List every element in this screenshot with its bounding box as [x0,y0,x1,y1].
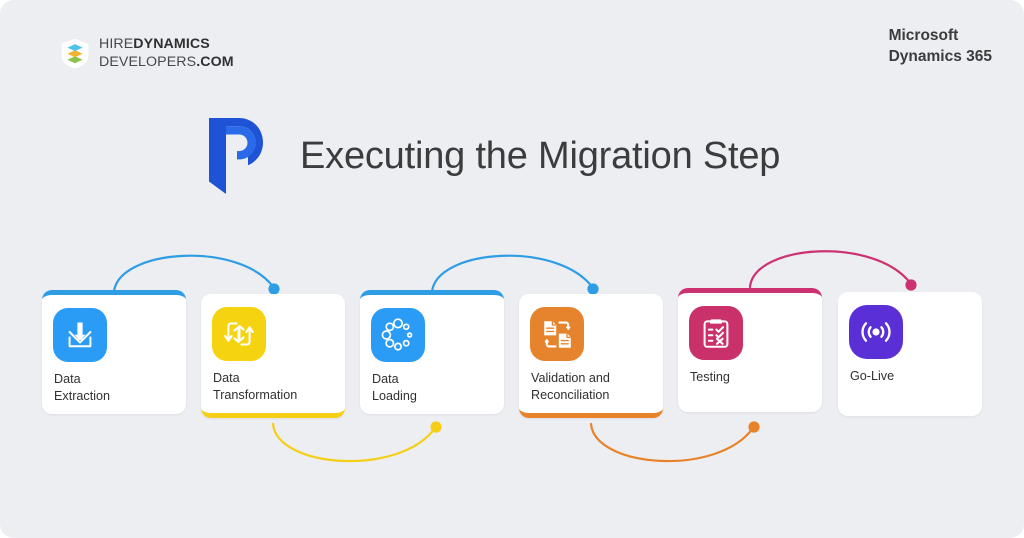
slide-canvas: HIREDYNAMICS DEVELOPERS.COM Microsoft Dy… [0,0,1024,538]
brand-developers: DEVELOPERS [99,54,196,70]
step-card-label: Data Loading [372,371,496,404]
connector-1-2 [114,256,280,295]
step-card-label: Go-Live [850,368,974,385]
step-card-label: Data Transformation [213,370,337,403]
corner-label-line2: Dynamics 365 [889,47,992,68]
brand-dynamics: DYNAMICS [133,36,209,52]
documents-sync-icon [530,307,584,361]
connector-5-6 [750,251,917,290]
step-card-testing[interactable]: Testing [678,288,822,412]
step-card-data-extraction[interactable]: Data Extraction [42,290,186,414]
page-title: Executing the Migration Step [300,135,780,178]
step-card-label: Validation and Reconciliation [531,370,655,403]
loading-spinner-icon [371,308,425,362]
step-card-label: Testing [690,369,814,386]
connector-arcs [0,0,1024,538]
connector-2-3 [273,421,442,461]
corner-label: Microsoft Dynamics 365 [889,26,992,68]
brand-logo: HIREDYNAMICS DEVELOPERS.COM [60,36,234,72]
step-card-data-transformation[interactable]: Data Transformation [201,294,345,418]
brand-dotcom: .COM [196,54,233,70]
step-card-data-loading[interactable]: Data Loading [360,290,504,414]
transform-arrows-icon [212,307,266,361]
step-card-label: Data Extraction [54,371,178,404]
broadcast-live-icon [849,305,903,359]
layers-shield-icon [60,38,90,69]
dynamics365-d-logo-icon [206,118,266,194]
corner-label-line1: Microsoft [889,26,992,47]
brand-wordmark: HIREDYNAMICS DEVELOPERS.COM [99,36,234,72]
download-to-tray-icon [53,308,107,362]
title-row: Executing the Migration Step [206,118,780,194]
step-card-go-live[interactable]: Go-Live [838,292,982,416]
connector-3-4 [432,256,599,295]
clipboard-check-icon [689,306,743,360]
brand-hire: HIRE [99,36,133,52]
connector-4-5 [591,421,760,461]
step-card-validation-and-reconciliation[interactable]: Validation and Reconciliation [519,294,663,418]
